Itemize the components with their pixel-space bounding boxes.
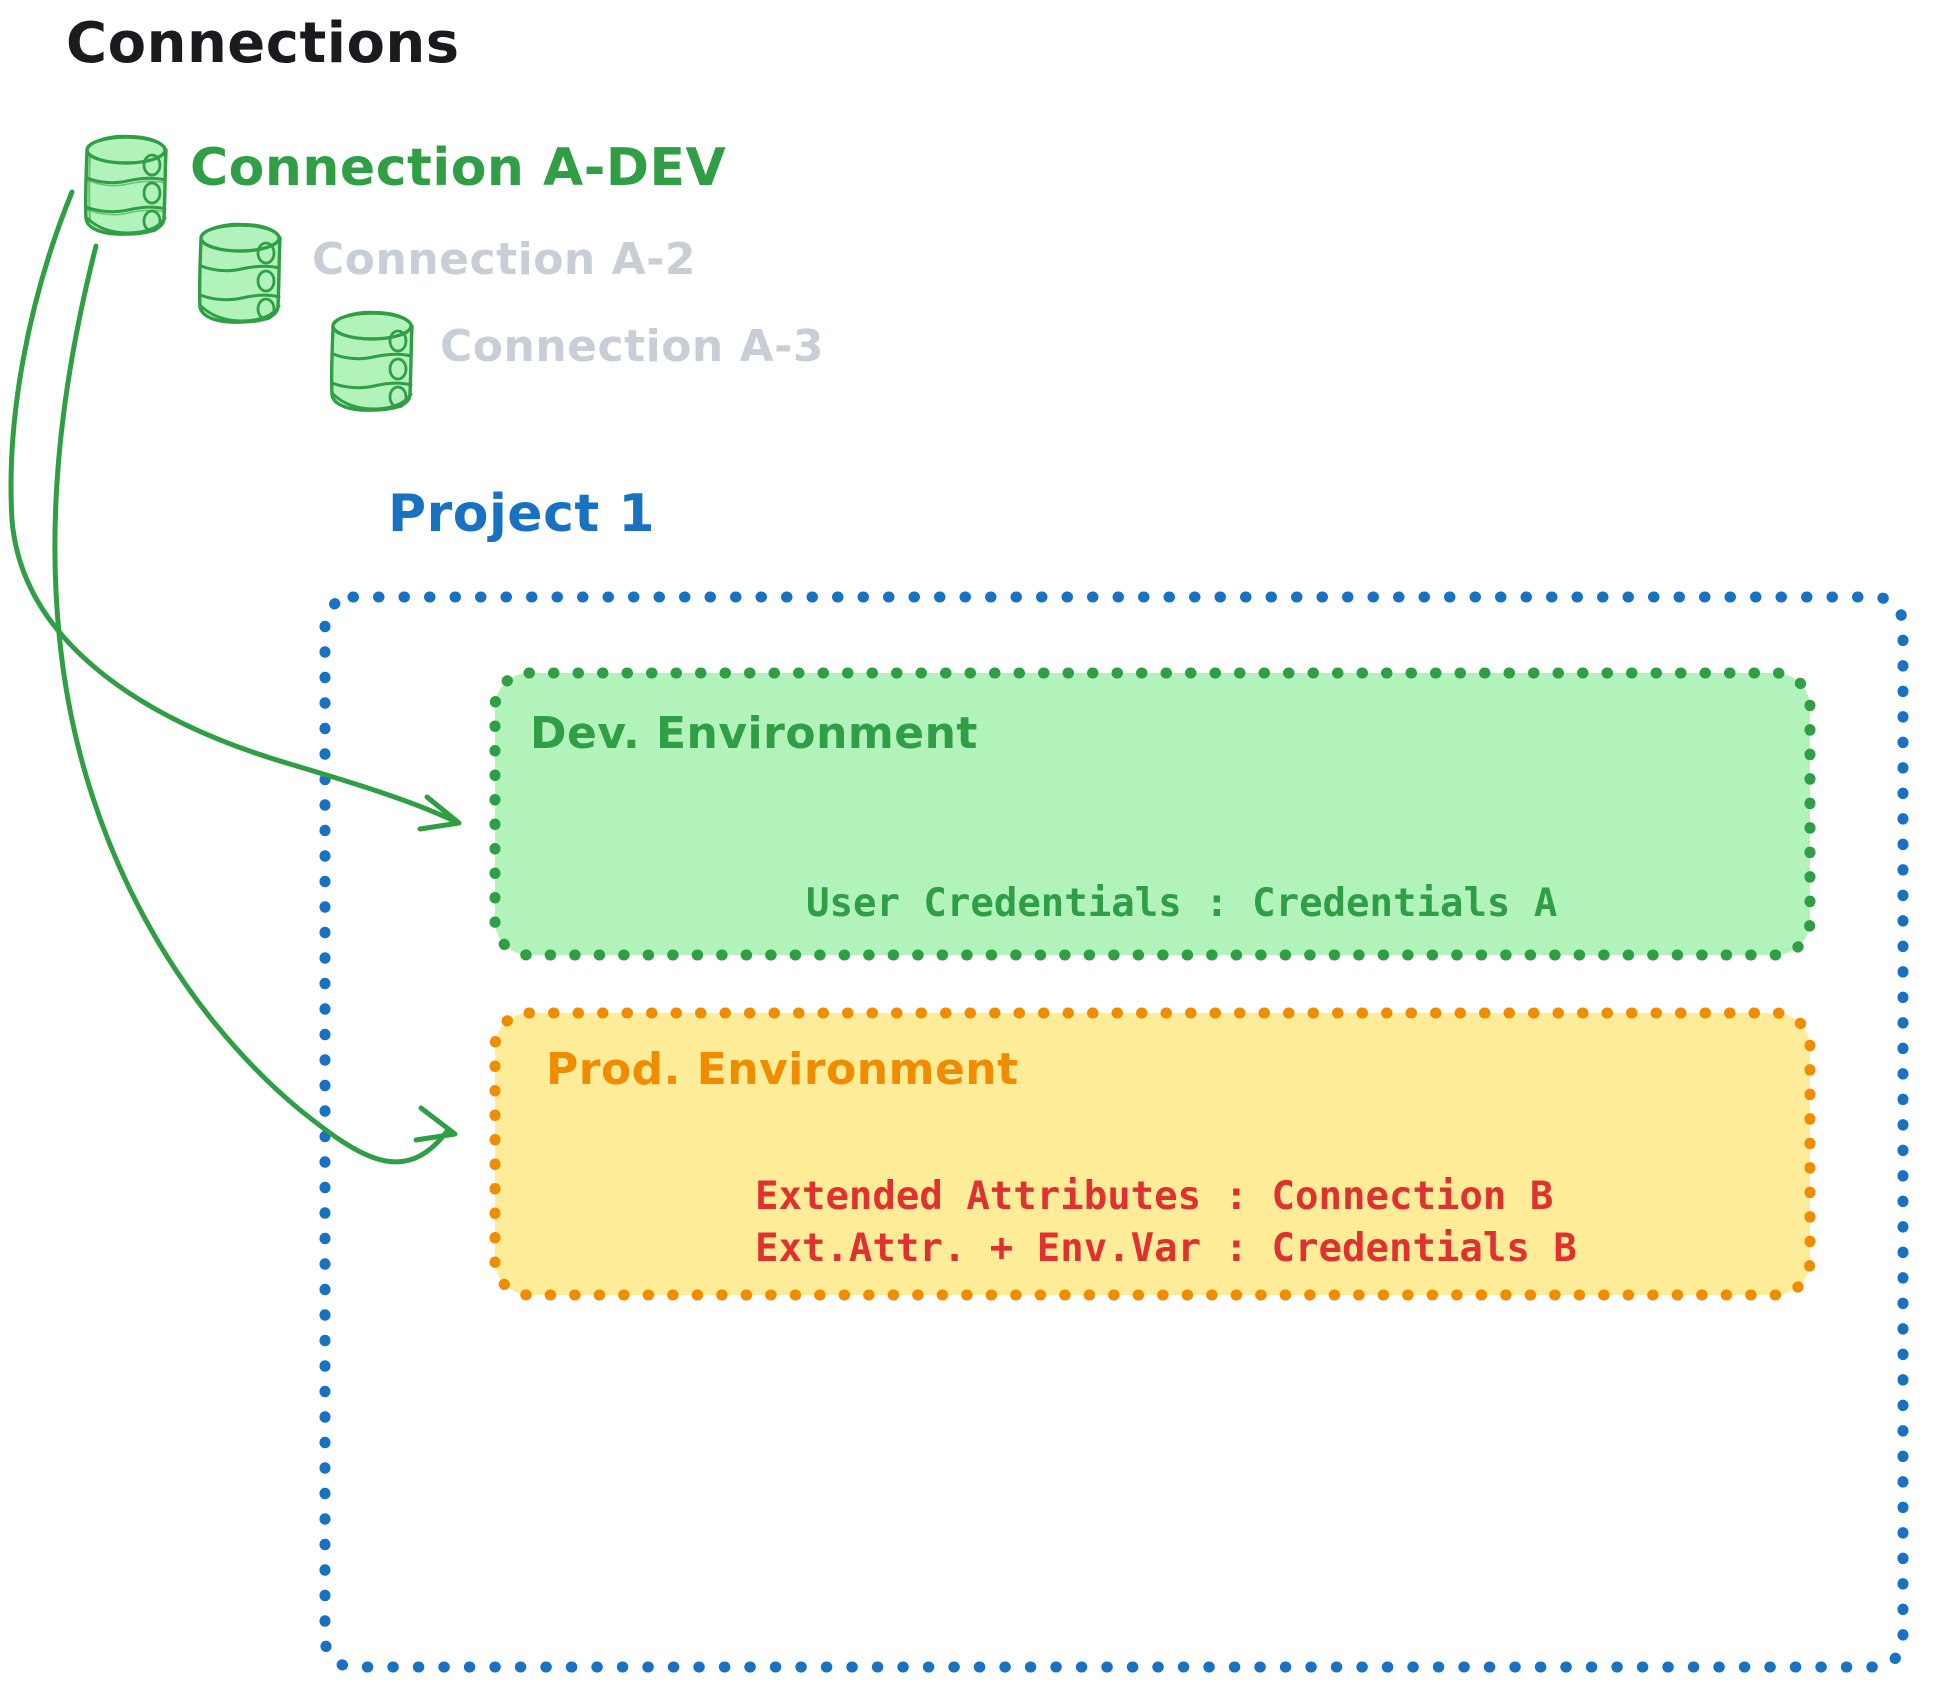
prod-environment-attributes-row: Extended Attributes : Connection B: [755, 1177, 1553, 1216]
page-title: Connections: [66, 16, 460, 72]
prod-environment-credentials-row: Ext.Attr. + Env.Var : Credentials B: [755, 1229, 1577, 1268]
dev-environment-title: Dev. Environment: [530, 712, 978, 756]
prod-environment-title: Prod. Environment: [546, 1048, 1019, 1092]
dev-environment-credentials-row: User Credentials : Credentials A: [806, 884, 1557, 923]
project-title: Project 1: [388, 488, 655, 540]
arrow-a-dev-to-prod-env: [55, 246, 455, 1162]
connection-label-a-3[interactable]: Connection A-3: [440, 325, 824, 369]
database-icon-connection-a-2[interactable]: [200, 224, 280, 322]
connection-label-a-2[interactable]: Connection A-2: [312, 238, 696, 282]
database-icon-connection-a-3[interactable]: [332, 312, 412, 410]
diagram-canvas: Connections Connection A-DEV Connection …: [0, 0, 1938, 1691]
database-icon-connection-a-dev[interactable]: [86, 136, 166, 234]
diagram-art-layer: [0, 0, 1938, 1691]
connection-label-a-dev[interactable]: Connection A-DEV: [190, 142, 726, 194]
